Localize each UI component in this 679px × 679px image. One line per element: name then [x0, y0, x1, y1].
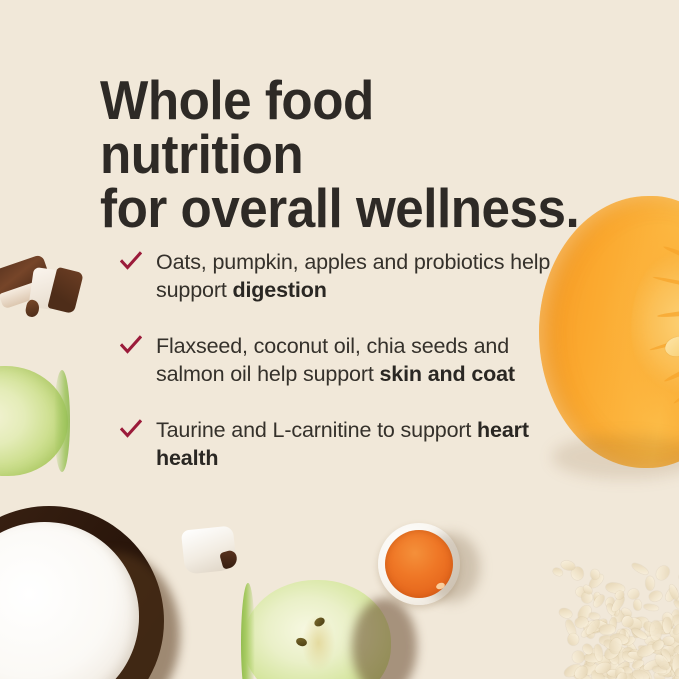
page-title: Whole food nutrition for overall wellnes…: [100, 74, 584, 236]
pumpkin-shadow: [552, 435, 679, 479]
coconut-shell: [220, 549, 240, 569]
list-item: Taurine and L-carnitine to support heart…: [120, 416, 570, 473]
list-item: Oats, pumpkin, apples and probiotics hel…: [120, 248, 570, 305]
apple-skin: [54, 370, 70, 471]
oat-flake: [648, 589, 663, 602]
coconut-flesh: [0, 522, 139, 679]
list-item-text: Oats, pumpkin, apples and probiotics hel…: [156, 250, 550, 302]
oat-flake: [552, 567, 564, 577]
list-item-text: Taurine and L-carnitine to support: [156, 418, 477, 442]
apple-shadow: [352, 598, 417, 679]
salmon-oil-bowl-image: [378, 523, 460, 605]
oat-flake: [646, 576, 655, 591]
list-item-keyword: digestion: [233, 278, 327, 302]
green-apple-slice-image: [0, 366, 68, 476]
green-apple-half-image: [243, 580, 391, 679]
oat-flake: [566, 633, 579, 647]
oat-flake: [663, 617, 672, 633]
oat-flake: [627, 588, 640, 600]
oat-flake: [650, 621, 662, 641]
oat-flake: [571, 650, 585, 665]
product-benefits-poster: Whole food nutrition for overall wellnes…: [0, 0, 679, 679]
oat-flake: [560, 559, 576, 571]
list-item-keyword: skin and coat: [379, 362, 514, 386]
check-icon: [120, 335, 142, 355]
oat-flake: [558, 607, 573, 620]
coconut-piece-image: [181, 525, 237, 574]
check-icon: [120, 251, 142, 271]
oat-flake: [644, 603, 660, 612]
coconut-half-image: [0, 506, 164, 679]
oat-flake: [633, 600, 642, 612]
rolled-oats-image: [493, 507, 679, 679]
list-item: Flaxseed, coconut oil, chia seeds and sa…: [120, 332, 570, 389]
oat-flake: [654, 563, 672, 582]
benefits-list: Oats, pumpkin, apples and probiotics hel…: [120, 248, 570, 472]
apple-skin: [241, 583, 255, 679]
check-icon: [120, 419, 142, 439]
oat-flake: [631, 561, 650, 576]
